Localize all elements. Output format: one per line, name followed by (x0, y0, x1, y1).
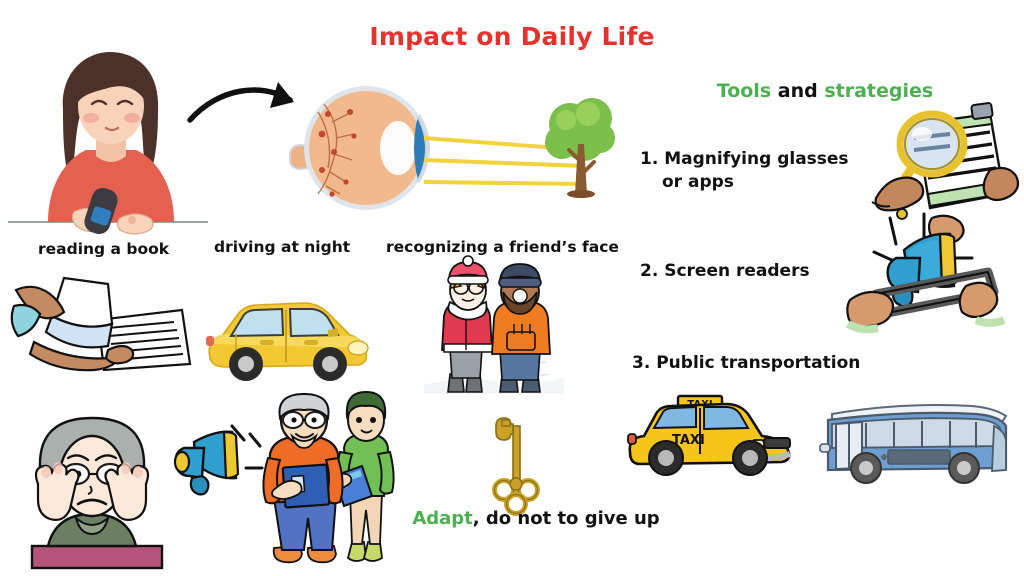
hands-reading-book-illustration (12, 266, 192, 376)
tool-item-2: 2. Screen readers (640, 260, 870, 283)
tool-item-2-label: Screen readers (664, 261, 809, 281)
tool-item-1-number: 1. (640, 149, 658, 169)
megaphone-icon (168, 424, 264, 496)
tool-item-2-number: 2. (640, 261, 658, 281)
yellow-taxi-illustration: TAXI TAXI (624, 396, 804, 482)
tool-item-3-label: Public transportation (656, 353, 860, 373)
elderly-man-and-woman-with-folders-illustration (268, 392, 394, 572)
green-tree-illustration (540, 88, 620, 198)
tool-item-3: 3. Public transportation (632, 352, 902, 375)
tagline-accent-word: Adapt (412, 508, 472, 529)
woman-with-glucose-meter-illustration (8, 42, 208, 237)
elderly-woman-covering-ears-illustration (22, 406, 162, 568)
caption-recognizing-a-friends-face: recognizing a friend’s face (386, 238, 619, 256)
golden-key-icon (484, 418, 550, 512)
caption-reading-a-book: reading a book (38, 240, 169, 258)
tagline-rest: , do not to give up (473, 508, 660, 529)
magnifying-glass-over-clipboard-illustration (872, 98, 1022, 220)
yellow-car-illustration (200, 296, 375, 386)
blue-bus-illustration (818, 392, 1013, 488)
caption-driving-at-night: driving at night (214, 238, 350, 256)
tools-heading-word-and: and (778, 80, 818, 102)
tool-item-1-label: Magnifying glasses (664, 149, 848, 169)
two-friends-in-winter-clothes-illustration (424, 262, 564, 394)
tool-item-1: 1. Magnifying glasses or apps (640, 148, 870, 194)
tool-item-3-number: 3. (632, 353, 650, 373)
tool-item-1-label-line2: or apps (640, 171, 870, 194)
megaphone-and-tablet-screen-reader-illustration (848, 214, 1024, 338)
infographic-canvas: Impact on Daily Life (0, 0, 1024, 576)
tools-heading-word-tools: Tools (717, 80, 771, 102)
tagline: Adapt, do not to give up (386, 508, 686, 529)
